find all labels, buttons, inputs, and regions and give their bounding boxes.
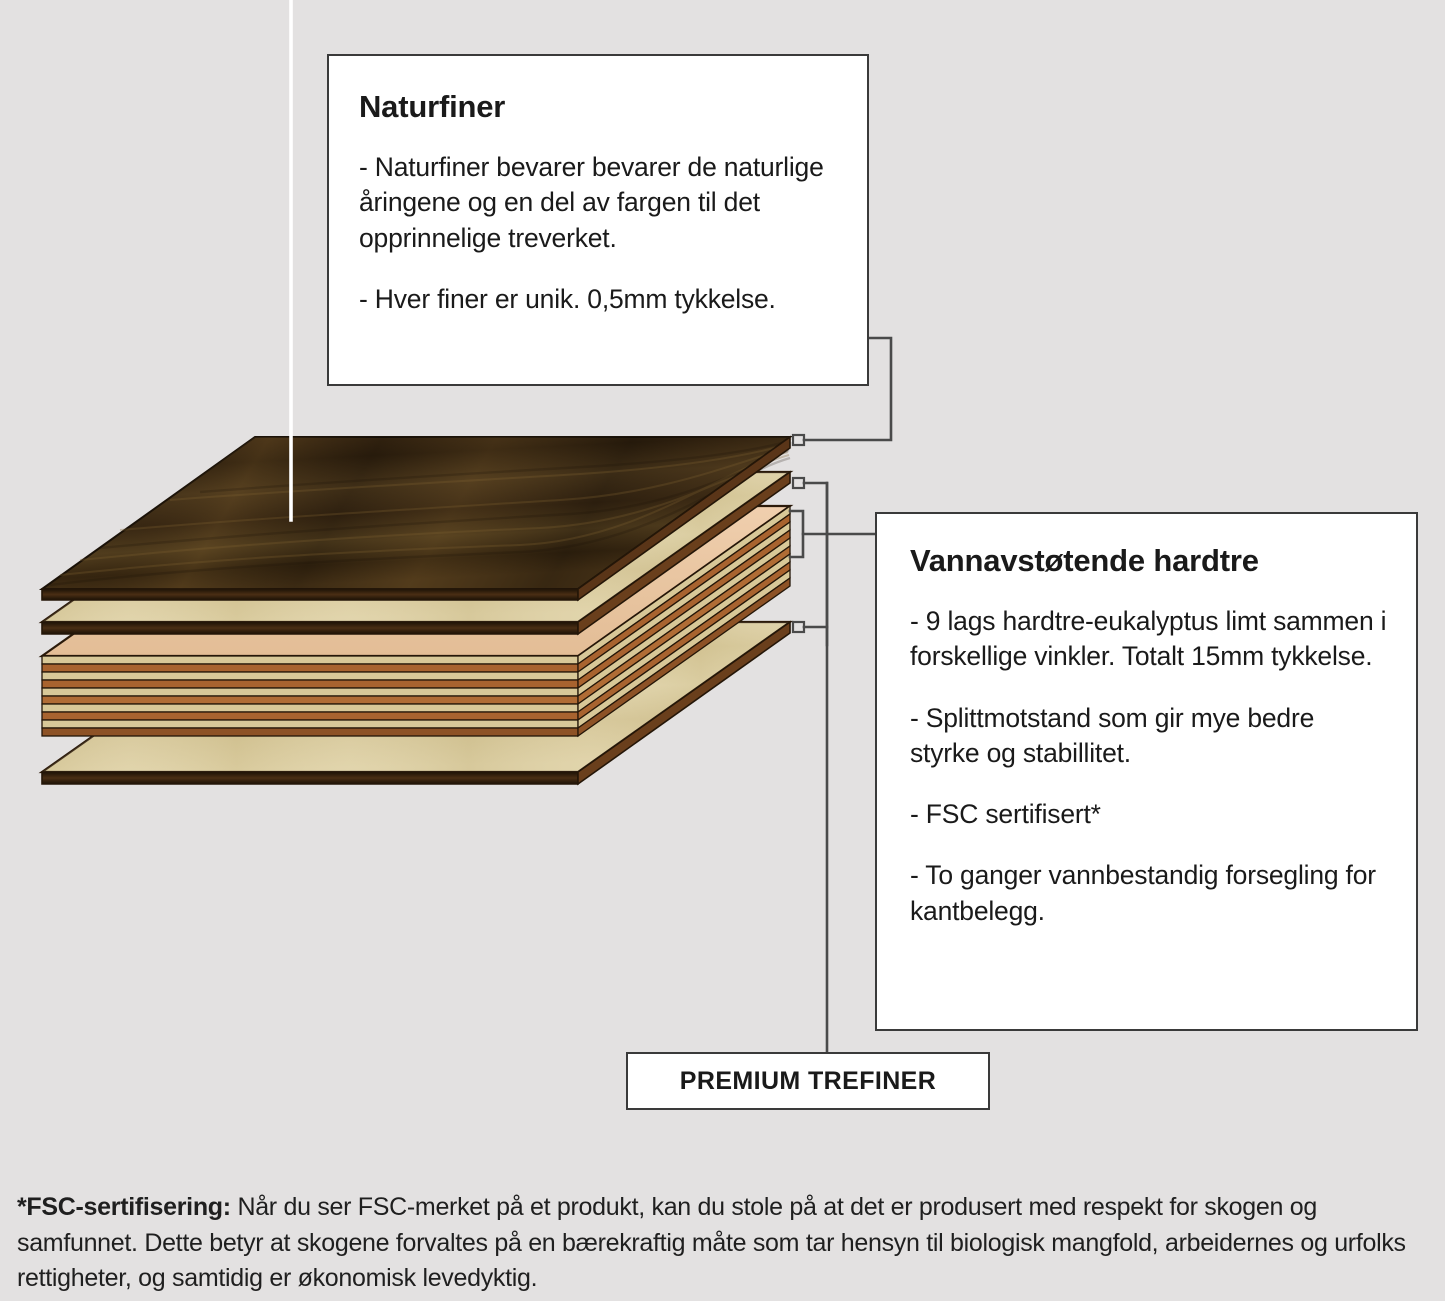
label-premium-trefiner: PREMIUM TREFINER [626,1052,990,1110]
leader-birch-bottom [793,622,827,632]
footnote-fsc: *FSC-sertifisering: Når du ser FSC-merke… [17,1190,1429,1297]
callout-naturfiner-title: Naturfiner [359,90,837,124]
callout-hardtre-bullet-3: - FSC sertifisert* [910,797,1388,832]
callout-naturfiner-bullet-2: - Hver finer er unik. 0,5mm tykkelse. [359,282,837,317]
callout-hardtre-bullet-4: - To ganger vannbestandig forsegling for… [910,858,1388,928]
callout-hardtre-bullet-2: - Splittmotstand som gir mye bedre styrk… [910,701,1388,771]
callout-naturfiner-bullet-1: - Naturfiner bevarer bevarer de naturlig… [359,150,837,256]
footnote-fsc-lead: *FSC-sertifisering: [17,1193,231,1221]
label-premium-trefiner-text: PREMIUM TREFINER [680,1067,936,1096]
leader-birch-middle [793,478,827,645]
callout-naturfiner: Naturfiner - Naturfiner bevarer bevarer … [327,54,869,386]
callout-hardtre: Vannavstøtende hardtre - 9 lags hardtre-… [875,512,1418,1031]
callout-hardtre-title: Vannavstøtende hardtre [910,544,1388,578]
diagram-stage: Naturfiner - Naturfiner bevarer bevarer … [0,0,1445,1301]
callout-hardtre-bullet-1: - 9 lags hardtre-eukalyptus limt sammen … [910,604,1388,674]
leader-eucalyptus-core [790,511,875,557]
